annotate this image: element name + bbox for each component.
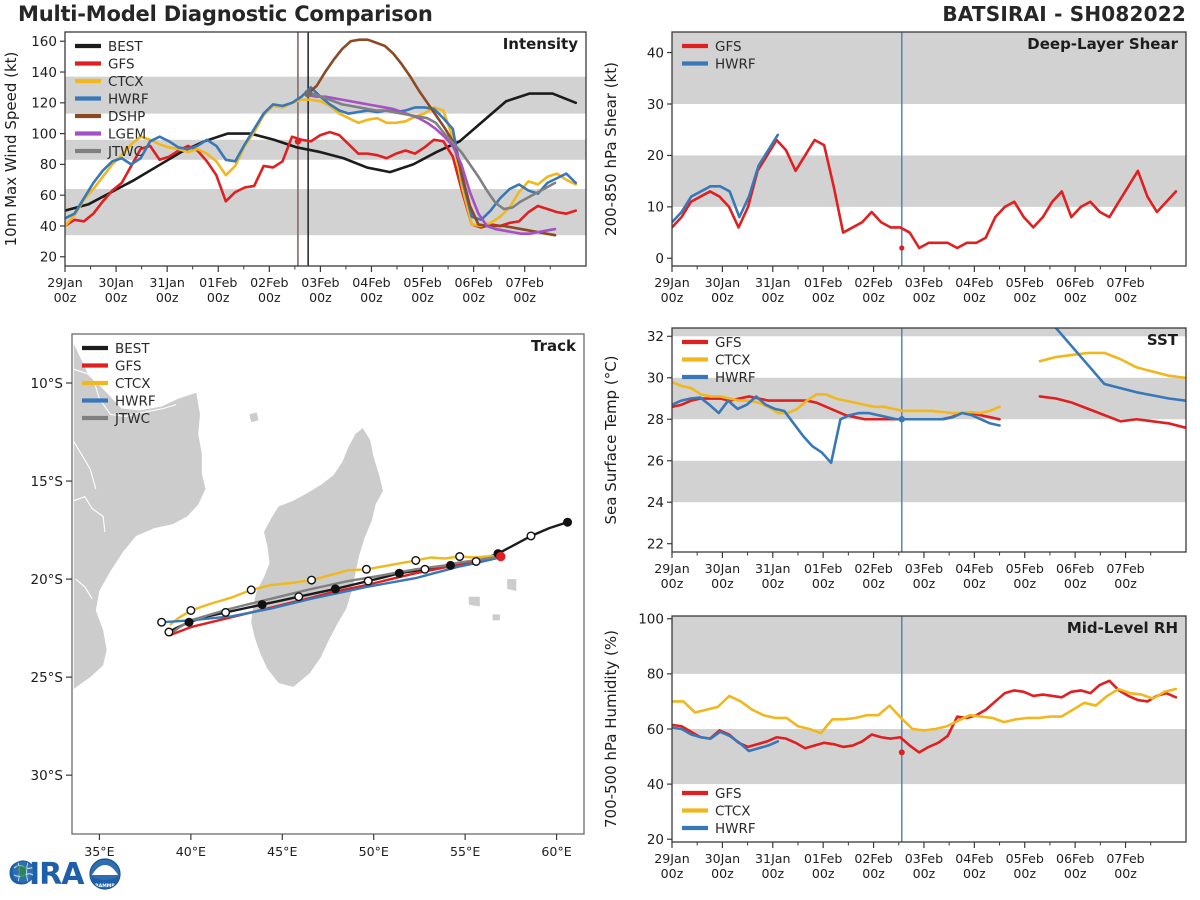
track-marker-forecast (363, 565, 371, 573)
x-tick-label-hour: 00z (761, 866, 784, 881)
x-tick-label-hour: 00z (862, 866, 885, 881)
x-tick-label-hour: 00z (711, 290, 734, 305)
x-tick-label-date: 03Feb (905, 851, 943, 866)
x-tick-label-date: 30Jan (705, 561, 740, 576)
x-tick-label-hour: 00z (513, 290, 536, 305)
lat-tick-label: 25°S (31, 670, 64, 686)
shaded-band (672, 461, 1186, 502)
x-tick-label-hour: 00z (812, 576, 835, 591)
x-tick-label-date: 29Jan (654, 851, 689, 866)
rh-panel: 2040608010029Jan00z30Jan00z31Jan00z01Feb… (600, 608, 1200, 900)
y-tick-label: 160 (31, 34, 57, 50)
sst-panel: 22242628303229Jan00z30Jan00z31Jan00z01Fe… (600, 320, 1200, 610)
x-tick-label-hour: 00z (661, 866, 684, 881)
y-tick-label: 40 (647, 777, 664, 793)
y-tick-label: 22 (647, 537, 664, 553)
track-marker-forecast (187, 607, 195, 615)
x-tick-label-date: 06Feb (1056, 851, 1094, 866)
shaded-band (672, 729, 1186, 784)
x-tick-label-date: 05Feb (1006, 851, 1044, 866)
x-tick-label-date: 06Feb (1056, 561, 1094, 576)
x-tick-label-date: 05Feb (1006, 561, 1044, 576)
x-tick-label-date: 01Feb (804, 561, 842, 576)
track-marker-intermediate (527, 532, 535, 540)
x-tick-label-hour: 00z (1114, 866, 1137, 881)
x-tick-label-hour: 00z (963, 290, 986, 305)
track-marker-intermediate (222, 609, 230, 617)
current-position-marker (497, 552, 505, 560)
shaded-band (65, 189, 586, 235)
track-marker-forecast (456, 553, 464, 561)
x-tick-label-date: 31Jan (755, 561, 790, 576)
x-tick-label-hour: 00z (711, 576, 734, 591)
x-tick-label-date: 07Feb (1106, 275, 1144, 290)
x-tick-label-date: 06Feb (1056, 275, 1094, 290)
x-tick-label-hour: 00z (913, 866, 936, 881)
x-tick-label-date: 01Feb (804, 275, 842, 290)
x-tick-label-date: 07Feb (506, 275, 544, 290)
x-tick-label-hour: 00z (862, 290, 885, 305)
track-marker-synoptic (258, 601, 266, 609)
x-tick-label-date: 03Feb (905, 561, 943, 576)
y-tick-label: 24 (647, 495, 664, 511)
x-tick-label-date: 04Feb (955, 851, 993, 866)
x-tick-label-date: 31Jan (755, 851, 790, 866)
x-tick-label-date: 04Feb (352, 275, 390, 290)
legend-label-ctcx: CTCX (715, 804, 751, 820)
x-tick-label-hour: 00z (1114, 290, 1137, 305)
x-tick-label-date: 03Feb (905, 275, 943, 290)
x-tick-label-date: 02Feb (854, 851, 892, 866)
x-tick-label-hour: 00z (462, 290, 485, 305)
legend-label-best: BEST (115, 341, 150, 357)
analysis-point (304, 90, 312, 98)
x-tick-label-hour: 00z (411, 290, 434, 305)
x-tick-label-hour: 00z (1064, 576, 1087, 591)
x-tick-label-hour: 00z (54, 290, 77, 305)
track-marker-forecast (412, 557, 420, 565)
x-tick-label-date: 04Feb (955, 275, 993, 290)
x-tick-label-hour: 00z (1013, 290, 1036, 305)
x-tick-label-hour: 00z (661, 290, 684, 305)
x-tick-label-hour: 00z (1064, 290, 1087, 305)
legend-label-gfs: GFS (715, 39, 742, 55)
y-tick-label: 100 (31, 126, 57, 142)
track-marker-forecast-end (158, 618, 166, 626)
intensity-panel: 2040608010012014016029Jan00z30Jan00z31Ja… (0, 24, 600, 324)
x-tick-label-date: 01Feb (804, 851, 842, 866)
lat-tick-label: 15°S (31, 474, 64, 490)
legend-label-hwrf: HWRF (715, 821, 756, 837)
diagnostic-comparison-page: Multi-Model Diagnostic Comparison BATSIR… (0, 0, 1200, 900)
x-tick-label-date: 07Feb (1106, 851, 1144, 866)
track-marker-intermediate (421, 565, 429, 573)
x-tick-label-hour: 00z (1064, 866, 1087, 881)
x-tick-label-hour: 00z (761, 576, 784, 591)
x-tick-label-date: 29Jan (47, 275, 82, 290)
x-tick-label-date: 05Feb (403, 275, 441, 290)
x-tick-label-hour: 00z (963, 576, 986, 591)
track-marker-intermediate (472, 558, 480, 566)
analysis-point (899, 749, 905, 755)
track-panel: 10°S15°S20°S25°S30°S35°E40°E45°E50°E55°E… (0, 322, 600, 882)
legend-label-hwrf: HWRF (115, 394, 156, 410)
x-tick-label-hour: 00z (1013, 576, 1036, 591)
y-tick-label: 60 (647, 722, 664, 738)
legend-label-gfs: GFS (115, 359, 142, 375)
track-marker-forecast (308, 576, 316, 584)
track-marker-intermediate (364, 577, 372, 585)
x-tick-label-hour: 00z (156, 290, 179, 305)
panel-title: SST (1147, 331, 1179, 349)
legend-label-hwrf: HWRF (108, 92, 149, 108)
cira-logo: CIRA RAMMB (6, 848, 126, 896)
y-tick-label: 10 (647, 200, 664, 216)
track-marker-synoptic (185, 618, 193, 626)
legend-label-ctcx: CTCX (108, 74, 144, 90)
legend-label-gfs: GFS (715, 786, 742, 802)
legend-label-gfs: GFS (715, 335, 742, 351)
panel-title: Intensity (503, 35, 579, 53)
x-tick-label-hour: 00z (661, 576, 684, 591)
x-tick-label-date: 03Feb (301, 275, 339, 290)
x-tick-label-hour: 00z (360, 290, 383, 305)
y-tick-label: 80 (647, 667, 664, 683)
track-marker-synoptic (395, 569, 403, 577)
x-tick-label-hour: 00z (812, 866, 835, 881)
y-tick-label: 30 (647, 97, 664, 113)
panel-title: Track (531, 337, 577, 355)
analysis-point (899, 245, 904, 250)
x-tick-label-date: 31Jan (755, 275, 790, 290)
x-tick-label-date: 29Jan (654, 561, 689, 576)
legend-label-best: BEST (108, 39, 143, 55)
lat-tick-label: 20°S (31, 572, 64, 588)
lon-tick-label: 40°E (176, 844, 206, 859)
page-title: Multi-Model Diagnostic Comparison (18, 2, 433, 26)
y-tick-label: 26 (647, 454, 664, 470)
y-tick-label: 140 (31, 65, 57, 81)
legend-label-jtwc: JTWC (114, 411, 150, 427)
analysis-point (295, 138, 301, 144)
x-tick-label-hour: 00z (1013, 866, 1036, 881)
svg-text:RAMMB: RAMMB (95, 883, 115, 889)
y-tick-label: 40 (40, 219, 57, 235)
x-tick-label-date: 02Feb (854, 275, 892, 290)
x-tick-label-date: 30Jan (705, 275, 740, 290)
storm-identifier-title: BATSIRAI - SH082022 (942, 2, 1186, 26)
lat-tick-label: 30°S (31, 768, 64, 784)
y-tick-label: 120 (31, 96, 57, 112)
y-tick-label: 60 (40, 188, 57, 204)
track-marker-synoptic (447, 561, 455, 569)
x-tick-label-date: 05Feb (1006, 275, 1044, 290)
x-tick-label-hour: 00z (913, 290, 936, 305)
lon-tick-label: 45°E (267, 844, 297, 859)
x-tick-label-date: 04Feb (955, 561, 993, 576)
shaded-band (65, 140, 586, 160)
legend-label-hwrf: HWRF (715, 370, 756, 386)
x-tick-label-date: 30Jan (98, 275, 133, 290)
y-tick-label: 20 (647, 148, 664, 164)
x-tick-label-date: 30Jan (705, 851, 740, 866)
x-tick-label-date: 02Feb (854, 561, 892, 576)
x-tick-label-date: 07Feb (1106, 561, 1144, 576)
shaded-band (672, 328, 1186, 336)
x-tick-label-date: 31Jan (149, 275, 184, 290)
lon-tick-label: 60°E (541, 844, 571, 859)
legend-label-hwrf: HWRF (715, 57, 756, 73)
shear-panel: 01020304029Jan00z30Jan00z31Jan00z01Feb00… (600, 24, 1200, 324)
legend-label-dshp: DSHP (108, 109, 145, 125)
legend-label-jtwc: JTWC (107, 144, 143, 160)
panel-title: Mid-Level RH (1067, 619, 1178, 637)
legend-label-ctcx: CTCX (715, 353, 751, 369)
x-tick-label-date: 06Feb (454, 275, 492, 290)
x-tick-label-date: 01Feb (199, 275, 237, 290)
x-tick-label-hour: 00z (812, 290, 835, 305)
x-tick-label-hour: 00z (105, 290, 128, 305)
lon-tick-label: 55°E (450, 844, 480, 859)
lat-tick-label: 10°S (31, 376, 64, 392)
y-tick-label: 20 (647, 832, 664, 848)
y-tick-label: 80 (40, 157, 57, 173)
y-axis-title: Sea Surface Temp (°C) (602, 355, 620, 524)
x-tick-label-hour: 00z (711, 866, 734, 881)
landmass-mauritius (507, 579, 516, 591)
x-tick-label-hour: 00z (862, 576, 885, 591)
track-marker-synoptic (564, 518, 572, 526)
x-tick-label-hour: 00z (258, 290, 281, 305)
y-tick-label: 30 (647, 371, 664, 387)
y-tick-label: 40 (647, 45, 664, 61)
y-tick-label: 100 (638, 612, 664, 628)
panel-title: Deep-Layer Shear (1027, 35, 1178, 53)
legend-label-lgem: LGEM (108, 127, 146, 143)
y-tick-label: 20 (40, 250, 57, 266)
track-marker-synoptic (331, 585, 339, 593)
landmass-smallisle (493, 614, 500, 620)
x-tick-label-hour: 00z (1114, 576, 1137, 591)
track-marker-intermediate (295, 593, 303, 601)
y-axis-title: 700-500 hPa Humidity (%) (602, 630, 620, 828)
track-marker-forecast (247, 586, 255, 594)
y-tick-label: 28 (647, 412, 664, 428)
legend-label-ctcx: CTCX (115, 376, 151, 392)
x-tick-label-hour: 00z (913, 576, 936, 591)
y-tick-label: 0 (655, 251, 664, 267)
x-tick-label-hour: 00z (207, 290, 230, 305)
x-tick-label-hour: 00z (761, 290, 784, 305)
x-tick-label-hour: 00z (963, 866, 986, 881)
x-tick-label-date: 29Jan (654, 275, 689, 290)
lon-tick-label: 50°E (359, 844, 389, 859)
analysis-point (899, 416, 905, 422)
x-tick-label-hour: 00z (309, 290, 332, 305)
legend-label-gfs: GFS (108, 57, 135, 73)
y-axis-title: 200-850 hPa Shear (kt) (602, 62, 620, 236)
y-axis-title: 10m Max Wind Speed (kt) (2, 52, 20, 247)
track-marker-intermediate (165, 628, 173, 636)
x-tick-label-date: 02Feb (250, 275, 288, 290)
y-tick-label: 32 (647, 329, 664, 345)
